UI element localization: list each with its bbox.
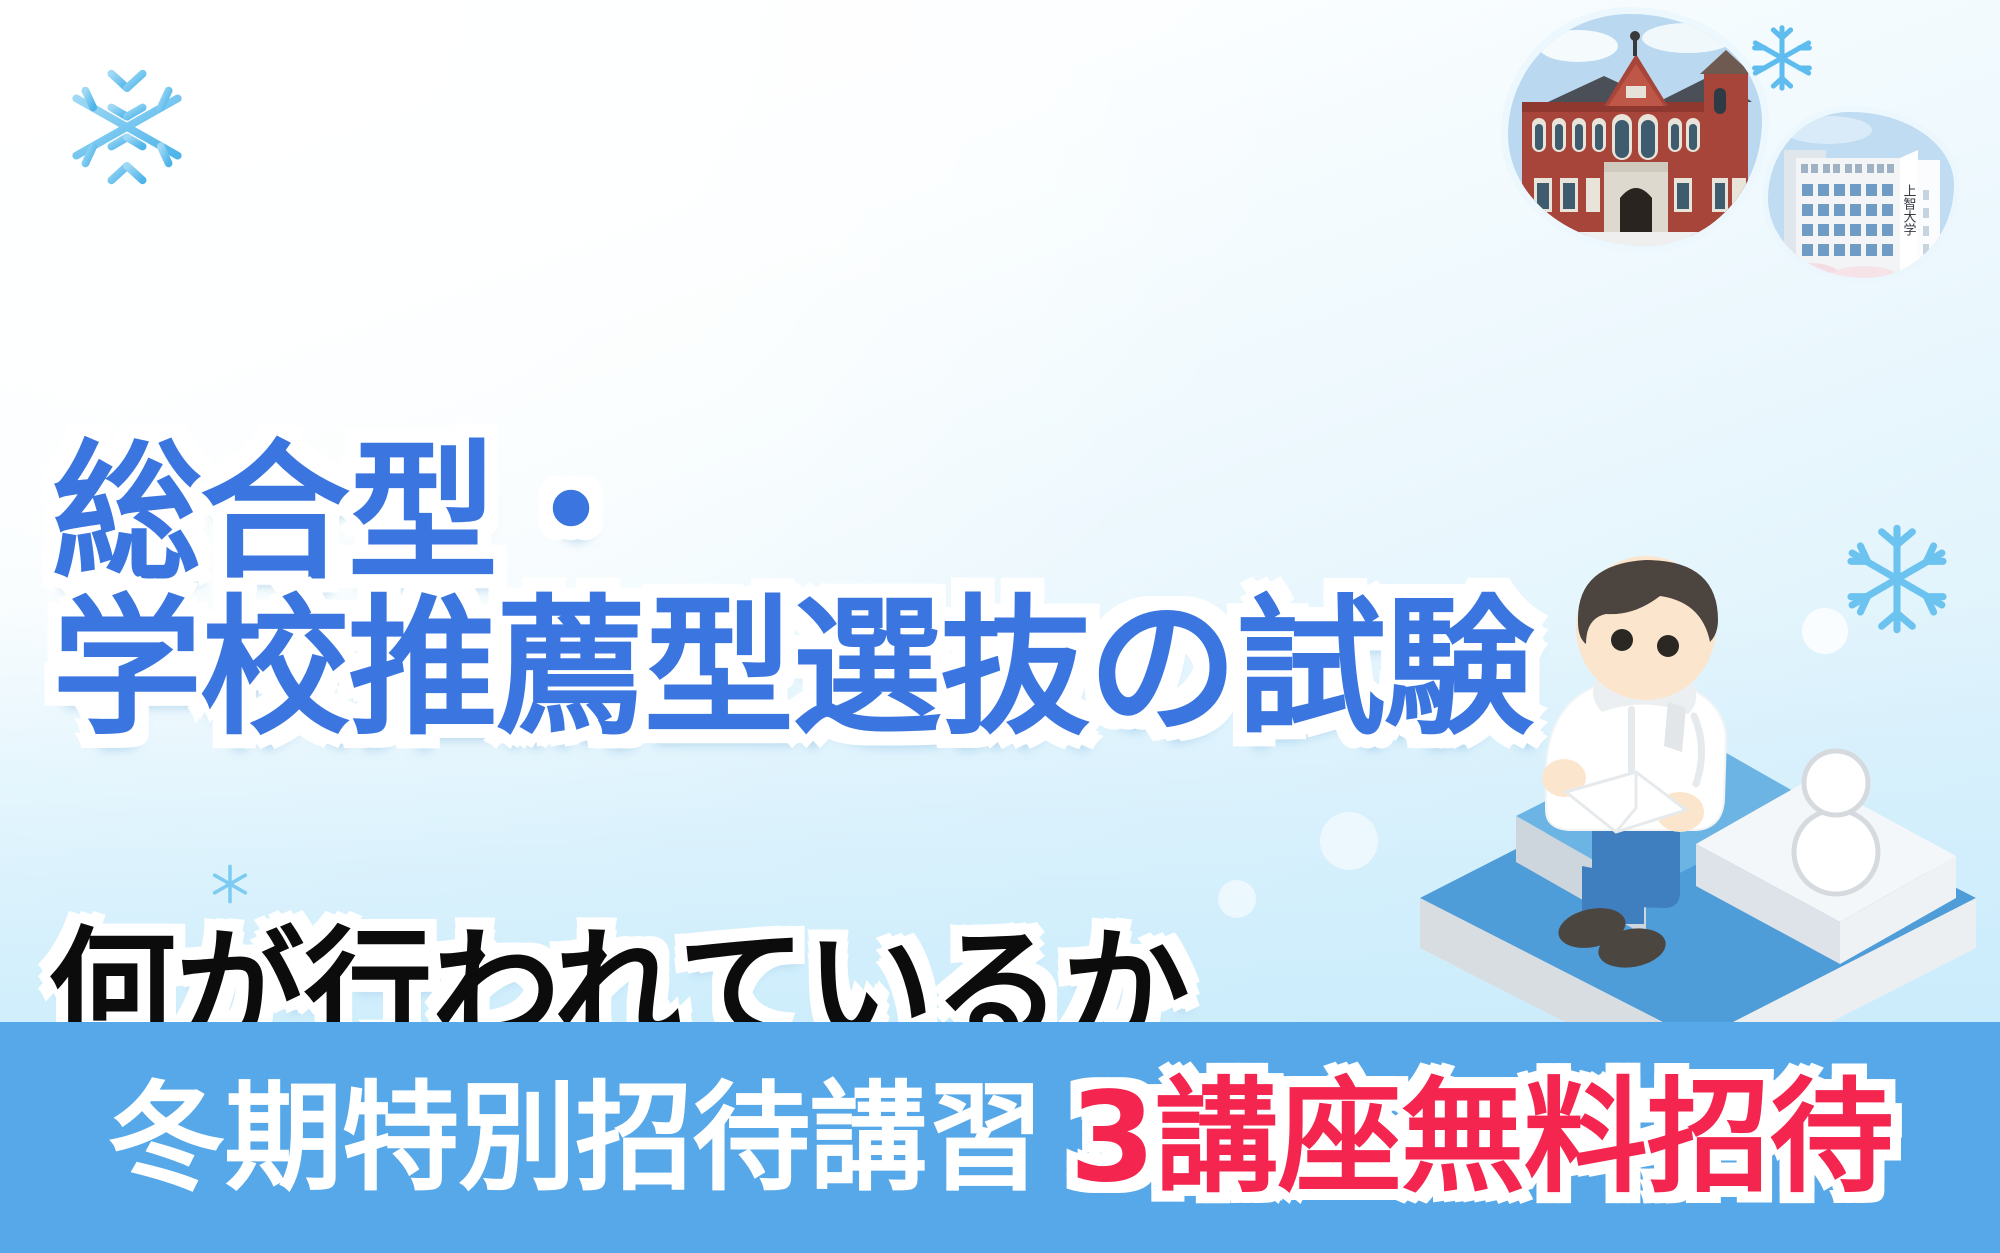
keio-building-illustration: [1508, 14, 1762, 246]
bottom-bar-offer: 3講座無料招待: [1069, 1076, 1892, 1200]
student-illustration: [1396, 556, 2000, 1022]
promo-banner: 上智大学 総合型・学校推薦型選抜の試験 何が行われているか知っていますか？: [0, 0, 2000, 1253]
sophia-building-illustration: 上智大学: [1768, 112, 1954, 278]
snowflake-icon: [208, 862, 252, 906]
headline-line-1: 総合型・: [52, 437, 1532, 592]
student-eye-right: [1657, 635, 1679, 657]
student-eye-left: [1611, 629, 1633, 651]
university-photo-keio: [1508, 14, 1762, 246]
bottom-cta-bar[interactable]: 冬期特別招待講習 3講座無料招待: [0, 1022, 2000, 1253]
sophia-sign-text: 上智大学: [1901, 184, 1917, 236]
university-photo-sophia: 上智大学: [1768, 112, 1954, 278]
snowman-icon: [1794, 751, 1878, 894]
snowflake-icon: [62, 62, 192, 192]
bottom-bar-course-name: 冬期特別招待講習: [107, 1079, 1043, 1197]
snowflake-icon: [1746, 22, 1818, 94]
